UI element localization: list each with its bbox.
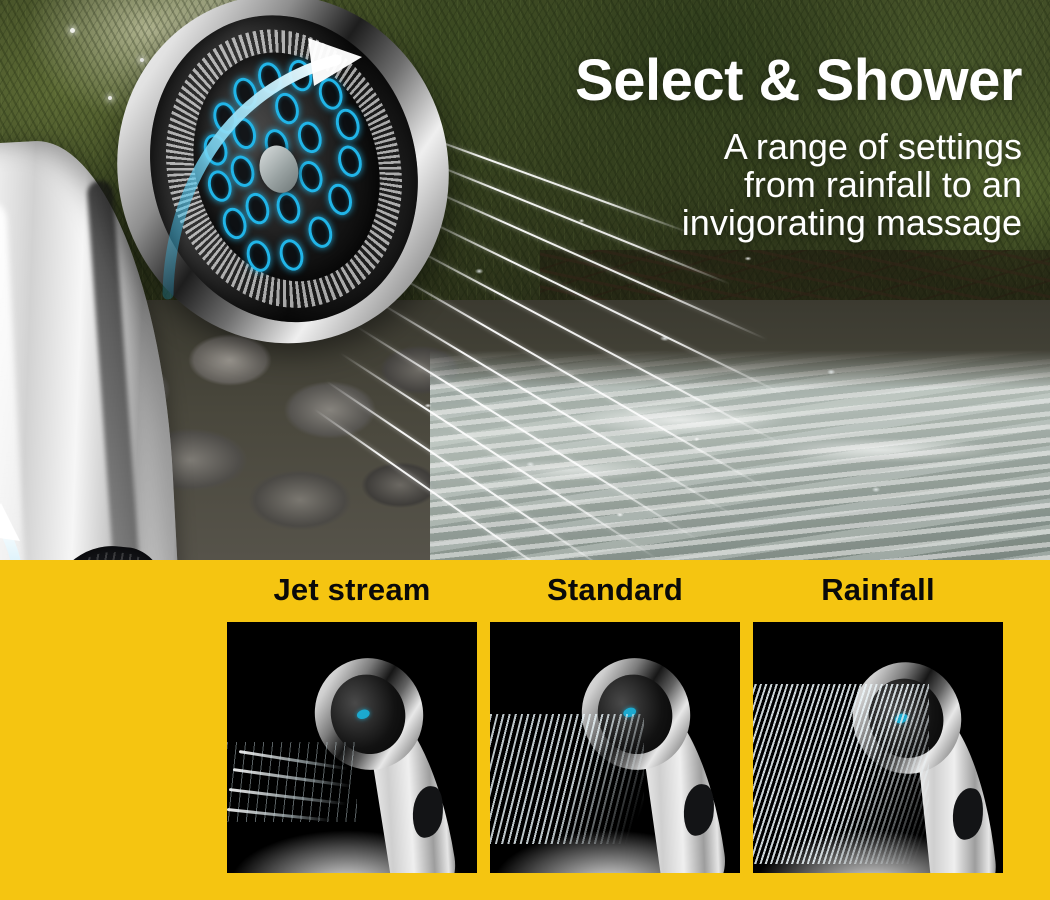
mode-labels: Jet stream Standard Rainfall [0,572,1050,616]
rainfall-spray [753,684,929,864]
mode-label-jet-stream: Jet stream [227,572,477,608]
mode-thumbnail-standard[interactable] [490,622,740,873]
rotation-arrow-icon [130,20,400,320]
product-marketing-banner: Select & Shower A range of settings from… [0,0,1050,900]
mode-thumbnail-rainfall[interactable] [753,622,1003,873]
standard-spray [490,714,644,844]
page-title: Select & Shower [402,52,1022,110]
subtitle-line-3: invigorating massage [402,204,1022,242]
subtitle-line-1: A range of settings [402,128,1022,166]
mode-label-standard: Standard [490,572,740,608]
mode-thumbnails [227,622,1003,873]
mode-thumbnail-jet-stream[interactable] [227,622,477,873]
subtitle-line-2: from rainfall to an [402,166,1022,204]
mode-label-rainfall: Rainfall [753,572,1003,608]
hero-subtitle: A range of settings from rainfall to an … [402,128,1022,242]
